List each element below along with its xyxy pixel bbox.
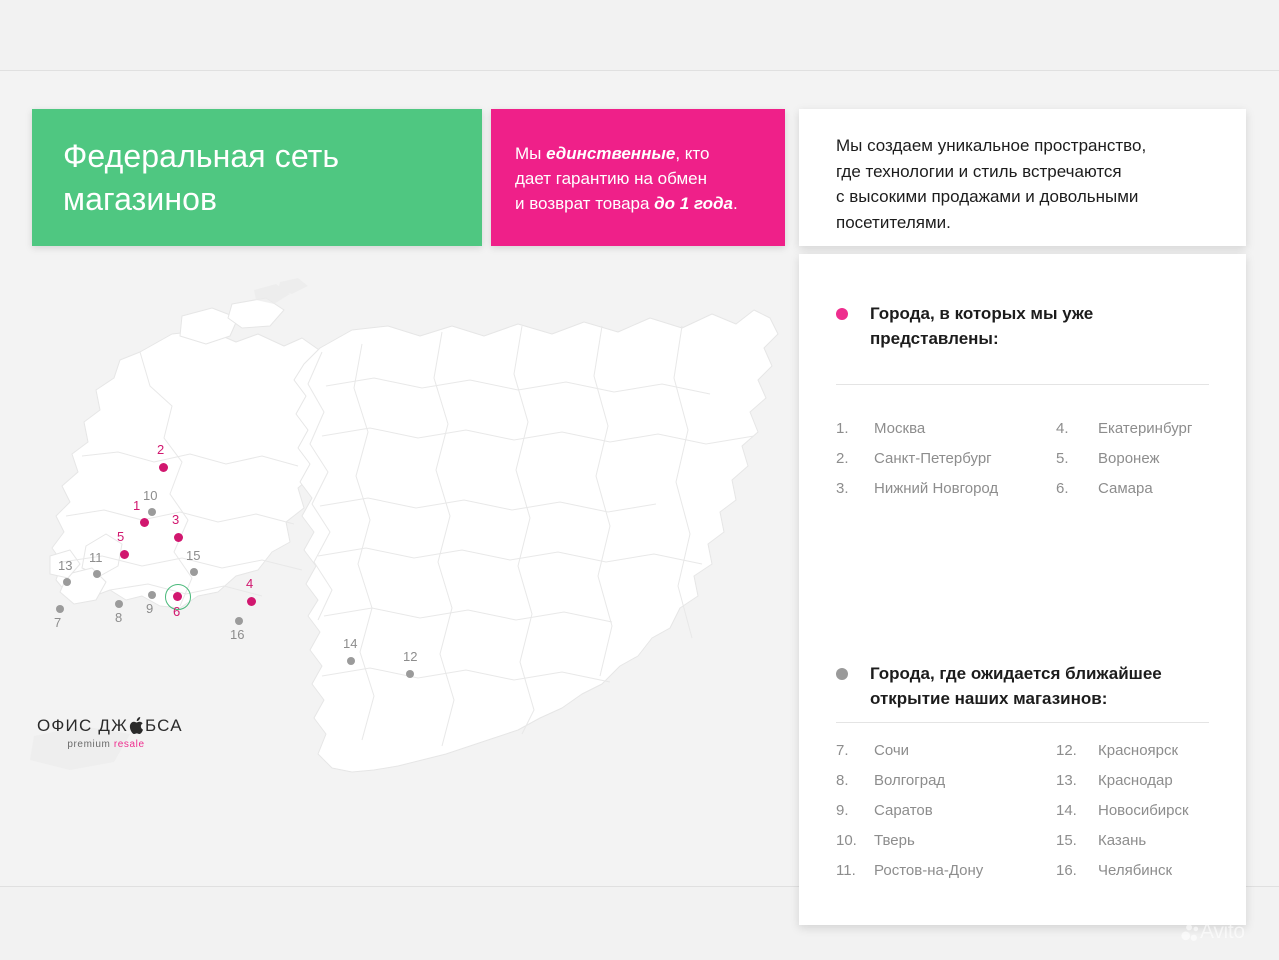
logo-sub-premium: premium [67, 739, 113, 750]
city-number: 1. [836, 414, 874, 444]
legend-gray-dot-icon [836, 668, 848, 680]
city-number: 15. [1056, 826, 1098, 856]
logo-text-part-1: ОФИС ДЖ [37, 716, 128, 736]
headline-line-2: магазинов [63, 178, 482, 221]
city-number: 6. [1056, 474, 1098, 504]
city-number: 10. [836, 826, 874, 856]
map-marker-dot-icon [235, 617, 243, 625]
legend-present-title-1: Города, в которых мы уже [870, 301, 1093, 326]
city-lists-card: Города, в которых мы уже представлены: 1… [799, 254, 1246, 925]
logo-sub-resale: resale [114, 739, 145, 750]
map-marker-dot-icon [406, 670, 414, 678]
city-number: 8. [836, 766, 874, 796]
city-name: Казань [1098, 826, 1226, 856]
legend-present-title-2: представлены: [870, 326, 1093, 351]
city-name: Краснодар [1098, 766, 1226, 796]
map-marker-dot-icon [148, 508, 156, 516]
legend-upcoming-title-2: открытие наших магазинов: [870, 686, 1162, 711]
map-marker-dot-icon [63, 578, 71, 586]
russia-map-svg [22, 256, 792, 876]
city-name: Новосибирск [1098, 796, 1226, 826]
map-marker-dot-icon [115, 600, 123, 608]
city-number: 5. [1056, 444, 1098, 474]
city-number: 11. [836, 856, 874, 886]
intro-card: Мы создаем уникальное пространство, где … [799, 109, 1246, 246]
city-number: 2. [836, 444, 874, 474]
city-name: Саратов [874, 796, 1056, 826]
city-number: 16. [1056, 856, 1098, 886]
legend-upcoming-title-1: Города, где ожидается ближайшее [870, 661, 1162, 686]
city-name: Сочи [874, 736, 1056, 766]
legend-present: Города, в которых мы уже представлены: [836, 301, 1216, 351]
legend-upcoming: Города, где ожидается ближайшее открытие… [836, 661, 1216, 711]
city-number: 12. [1056, 736, 1098, 766]
city-number: 9. [836, 796, 874, 826]
map-marker-label: 5 [117, 529, 124, 544]
map-marker-label: 1 [133, 498, 140, 513]
map-marker-label: 15 [186, 548, 200, 563]
city-list-upcoming: 7.Сочи12.Красноярск8.Волгоград13.Краснод… [836, 736, 1226, 886]
russia-map: 12345678910111213141516 [22, 256, 792, 876]
city-name: Ростов-на-Дону [874, 856, 1056, 886]
map-marker-dot-icon [190, 568, 198, 576]
city-name: Красноярск [1098, 736, 1226, 766]
map-marker-label: 8 [115, 610, 122, 625]
logo-text-part-2: БСА [145, 716, 183, 736]
map-marker-label: 13 [58, 558, 72, 573]
intro-line-1: Мы создаем уникальное пространство, [836, 133, 1224, 159]
intro-line-2: где технологии и стиль встречаются [836, 159, 1224, 185]
intro-line-4: посетителями. [836, 210, 1224, 236]
map-marker-label: 3 [172, 512, 179, 527]
city-name: Волгоград [874, 766, 1056, 796]
guarantee-banner: Мы единственные, кто дает гарантию на об… [491, 109, 785, 246]
city-name: Тверь [874, 826, 1056, 856]
city-number: 3. [836, 474, 874, 504]
city-name: Екатеринбург [1098, 414, 1226, 444]
city-name: Воронеж [1098, 444, 1226, 474]
map-marker-dot-icon [247, 597, 256, 606]
map-marker-label: 7 [54, 615, 61, 630]
map-marker-dot-icon [93, 570, 101, 578]
divider-present [836, 384, 1209, 385]
slide-canvas: Федеральная сеть магазинов Мы единственн… [0, 0, 1279, 960]
avito-dots-icon [1181, 923, 1200, 942]
city-number: 13. [1056, 766, 1098, 796]
apple-icon [129, 717, 144, 735]
city-number: 7. [836, 736, 874, 766]
map-marker-dot-icon [174, 533, 183, 542]
guarantee-line-2: дает гарантию на обмен [515, 166, 785, 191]
map-marker-dot-icon [173, 592, 182, 601]
map-marker-dot-icon [159, 463, 168, 472]
city-name: Нижний Новгород [874, 474, 1056, 504]
city-name: Самара [1098, 474, 1226, 504]
map-marker-label: 2 [157, 442, 164, 457]
guarantee-line-3: и возврат товара до 1 года. [515, 191, 785, 216]
headline-banner: Федеральная сеть магазинов [32, 109, 482, 246]
city-list-present: 1.Москва4.Екатеринбург2.Санкт-Петербург5… [836, 414, 1226, 504]
company-logo: ОФИС ДЖ БСА premium resale [37, 716, 183, 750]
city-name: Москва [874, 414, 1056, 444]
map-marker-dot-icon [56, 605, 64, 613]
map-marker-dot-icon [120, 550, 129, 559]
map-marker-label: 12 [403, 649, 417, 664]
map-marker-label: 9 [146, 601, 153, 616]
city-number: 14. [1056, 796, 1098, 826]
map-marker-label: 11 [89, 550, 103, 565]
map-marker-label: 6 [173, 604, 180, 619]
headline-line-1: Федеральная сеть [63, 135, 482, 178]
presentation-slide: Федеральная сеть магазинов Мы единственн… [0, 71, 1279, 886]
map-marker-dot-icon [148, 591, 156, 599]
intro-line-3: с высокими продажами и довольными [836, 184, 1224, 210]
avito-watermark: Avito [1181, 920, 1245, 944]
map-marker-label: 10 [143, 488, 157, 503]
map-marker-label: 14 [343, 636, 357, 651]
city-name: Челябинск [1098, 856, 1226, 886]
guarantee-line-1: Мы единственные, кто [515, 141, 785, 166]
city-name: Санкт-Петербург [874, 444, 1056, 474]
map-marker-label: 4 [246, 576, 253, 591]
map-marker-label: 16 [230, 627, 244, 642]
city-number: 4. [1056, 414, 1098, 444]
map-marker-dot-icon [140, 518, 149, 527]
divider-upcoming [836, 722, 1209, 723]
logo-subtitle: premium resale [37, 739, 175, 750]
avito-wordmark: Avito [1200, 920, 1245, 944]
map-marker-dot-icon [347, 657, 355, 665]
legend-pink-dot-icon [836, 308, 848, 320]
